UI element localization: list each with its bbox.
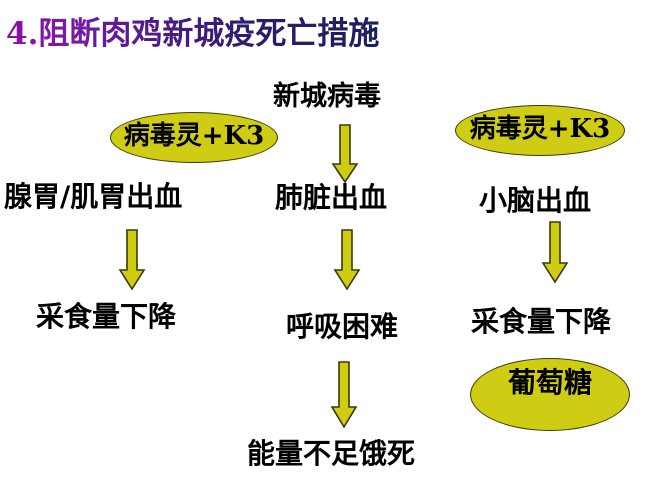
arrow-cere-to-feed: [541, 221, 569, 284]
label-drug-left: 病毒灵+K3: [110, 123, 278, 149]
node-feed-drop-right: 采食量下降: [471, 308, 611, 336]
arrow-stomach-to-feed: [118, 229, 146, 291]
node-feed-drop-left: 采食量下降: [36, 303, 176, 331]
node-cerebellum-bleed: 小脑出血: [479, 187, 591, 215]
arrow-lung-to-breath: [333, 229, 361, 291]
node-stomach-bleed: 腺胃/肌胃出血: [4, 183, 182, 211]
label-glucose: 葡萄糖: [470, 369, 630, 397]
arrow-breath-to-death: [330, 361, 358, 429]
slide-canvas: 4.阻断肉鸡新城疫死亡措施 新城病毒 病毒灵+K3 病毒灵+K3 腺胃/肌胃出血…: [0, 0, 660, 491]
label-drug-right: 病毒灵+K3: [455, 116, 625, 142]
page-title: 4.阻断肉鸡新城疫死亡措施: [6, 8, 379, 53]
node-virus: 新城病毒: [273, 83, 381, 110]
node-energy-starve: 能量不足饿死: [247, 440, 415, 468]
arrow-virus-to-lung: [331, 124, 359, 184]
node-lung-bleed: 肺脏出血: [275, 184, 387, 212]
node-breath-difficulty: 呼吸困难: [286, 313, 398, 341]
